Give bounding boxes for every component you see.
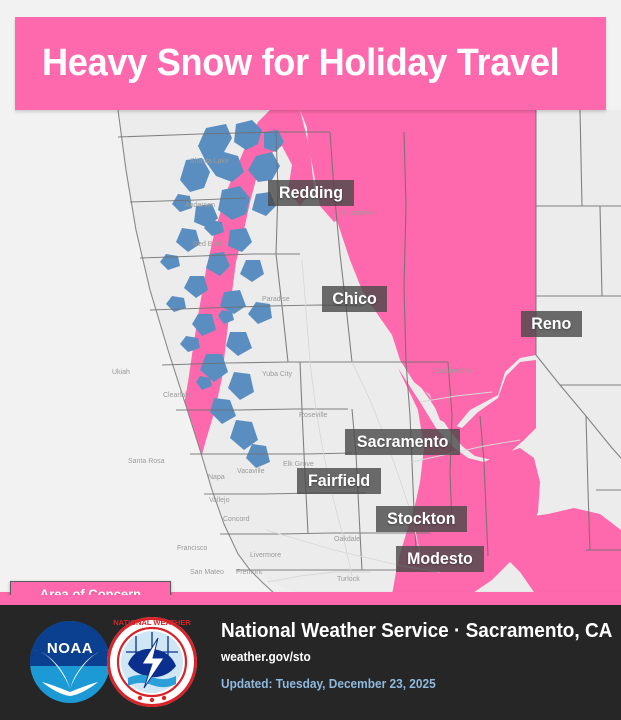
place-name: Napa: [208, 474, 225, 481]
city-label-modesto[interactable]: Modesto: [396, 546, 484, 572]
place-name: Yuba City: [262, 371, 292, 378]
nws-logo: NATIONAL WEATHER: [106, 616, 198, 708]
city-label-text: Stockton: [387, 509, 455, 529]
noaa-logo-text: NOAA: [47, 640, 93, 657]
city-label-text: Redding: [279, 183, 343, 203]
place-name: Red Bluff: [193, 241, 222, 248]
city-label-text: Sacramento: [357, 432, 448, 452]
city-label-sacramento[interactable]: Sacramento: [345, 429, 460, 455]
city-label-fairfield[interactable]: Fairfield: [297, 468, 381, 494]
place-name: Livermore: [250, 552, 281, 559]
city-label-chico[interactable]: Chico: [322, 286, 387, 312]
place-name: Roseville: [299, 412, 327, 419]
place-name: Shasta Lake: [190, 158, 229, 165]
footer-text-block: National Weather Service · Sacramento, C…: [221, 620, 621, 691]
nws-logo-text-top: NATIONAL WEATHER: [113, 618, 191, 627]
city-label-stockton[interactable]: Stockton: [376, 506, 467, 532]
title-banner: Heavy Snow for Holiday Travel: [15, 17, 606, 110]
place-name: Paradise: [262, 296, 290, 303]
noaa-logo: NOAA: [26, 620, 114, 704]
page-title: Heavy Snow for Holiday Travel: [42, 42, 559, 85]
weather-graphic: AndersonRed BluffShasta LakeSusanvillePa…: [0, 0, 621, 720]
city-label-reno[interactable]: Reno: [521, 311, 582, 337]
city-label-text: Fairfield: [308, 471, 370, 491]
place-name: Vallejo: [209, 497, 230, 504]
legend-label-area-of-concern: Area of Concern: [40, 586, 141, 595]
place-name: Clearlake: [163, 392, 193, 399]
city-label-text: Chico: [332, 289, 376, 309]
place-name: San Mateo: [190, 569, 224, 576]
place-name: Fremont: [236, 569, 262, 576]
place-name: Turlock: [337, 576, 360, 583]
place-name: Susanville: [342, 210, 374, 217]
place-name: Ukiah: [112, 369, 130, 376]
legend-item-area-of-concern[interactable]: Area of Concern: [10, 581, 171, 595]
place-name: Carson City: [435, 368, 472, 375]
updated-timestamp: Updated: Tuesday, December 23, 2025: [221, 677, 612, 691]
place-name: Oakdale: [334, 536, 360, 543]
city-label-text: Reno: [531, 314, 571, 334]
city-label-text: Modesto: [407, 549, 473, 569]
place-name: Santa Rosa: [128, 458, 165, 465]
hazard-map[interactable]: AndersonRed BluffShasta LakeSusanvillePa…: [0, 110, 621, 595]
place-name: Vacaville: [237, 468, 265, 475]
map-legend: Area of Concern Winter Storm Watch: [10, 581, 171, 595]
city-label-redding[interactable]: Redding: [268, 180, 354, 206]
place-name: Anderson: [185, 202, 215, 209]
office-name: National Weather Service · Sacramento, C…: [221, 620, 612, 643]
place-name: Concord: [223, 516, 249, 523]
place-name: Francisco: [177, 545, 207, 552]
office-url[interactable]: weather.gov/sto: [221, 650, 612, 664]
place-name: Elk Grove: [283, 461, 314, 468]
